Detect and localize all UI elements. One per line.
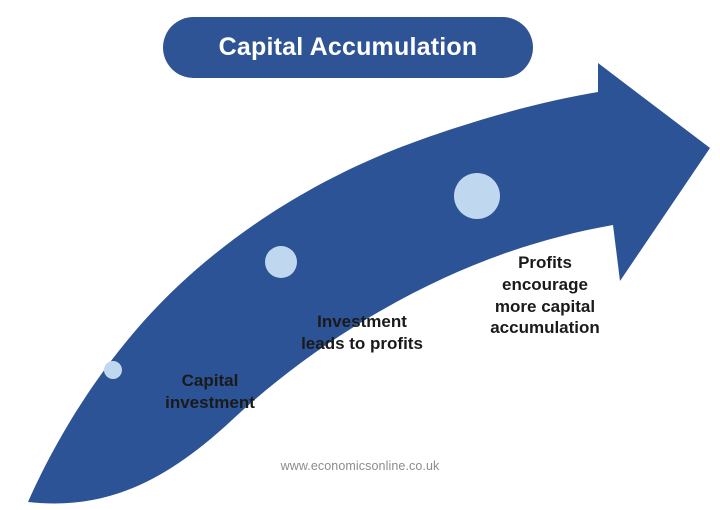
diagram-canvas: Capital Accumulation Capital investment … — [0, 0, 720, 510]
source-credit: www.economicsonline.co.uk — [0, 459, 720, 473]
page-title: Capital Accumulation — [219, 35, 478, 60]
stage-marker-large — [454, 173, 500, 219]
stage-label-profits-encourage-accumulation: Profits encourage more capital accumulat… — [428, 252, 662, 339]
stage-label-investment-leads-to-profits: Investment leads to profits — [272, 311, 452, 355]
stage-label-capital-investment: Capital investment — [126, 370, 294, 414]
stage-marker-small — [104, 361, 122, 379]
title-pill: Capital Accumulation — [163, 17, 533, 78]
stage-marker-medium — [265, 246, 297, 278]
